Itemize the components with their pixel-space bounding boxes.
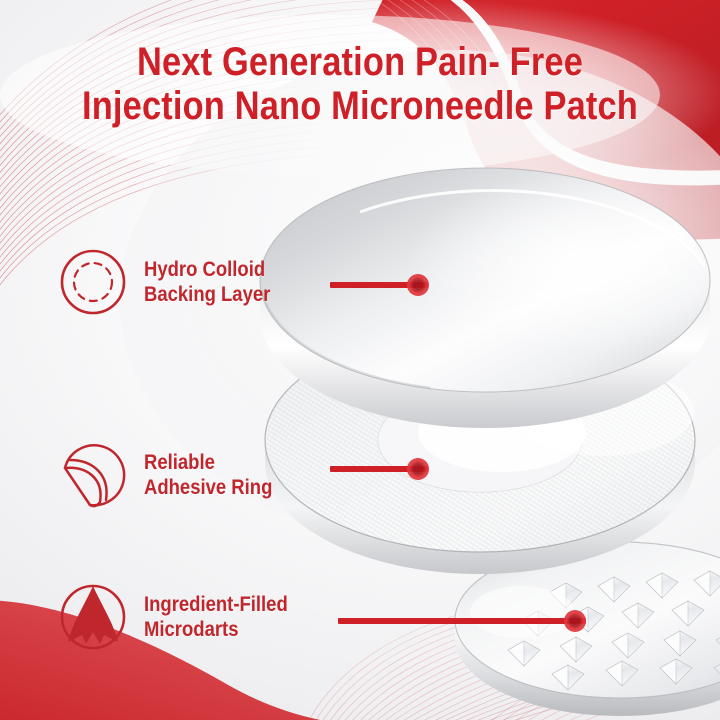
bottom-fan-line-swirls xyxy=(300,592,720,720)
feature-ingredient-filled-microdarts[interactable]: Ingredient-Filled Microdarts xyxy=(56,580,307,654)
feature-2-line-1: Reliable xyxy=(144,450,272,475)
exploded-microneedle-patch-illustration xyxy=(250,140,720,720)
feature-3-line-2: Microdarts xyxy=(144,617,288,642)
dart-in-circle-icon xyxy=(56,580,130,654)
callout-dot-microdarts[interactable] xyxy=(564,610,586,632)
feature-label-backing-layer: Hydro Colloid Backing Layer xyxy=(144,257,270,307)
title-line-2: Injection Nano Microneedle Patch xyxy=(50,84,669,128)
peeling-patch-icon xyxy=(56,438,130,512)
microdart-array xyxy=(508,571,720,690)
hydro-colloid-backing-disc xyxy=(260,168,710,428)
poster-canvas: Next Generation Pain- Free Injection Nan… xyxy=(0,0,720,720)
feature-1-line-2: Backing Layer xyxy=(144,282,270,307)
feature-reliable-adhesive-ring[interactable]: Reliable Adhesive Ring xyxy=(56,438,290,512)
feature-3-line-1: Ingredient-Filled xyxy=(144,592,288,617)
woven-adhesive-ring xyxy=(265,328,695,574)
microdart-base-disc xyxy=(455,542,720,716)
dashed-circle-icon xyxy=(56,245,130,319)
leader-line-microdarts xyxy=(338,618,586,624)
feature-label-microdarts: Ingredient-Filled Microdarts xyxy=(144,592,288,642)
callout-dot-adhesive-ring[interactable] xyxy=(407,458,429,480)
poster-title: Next Generation Pain- Free Injection Nan… xyxy=(0,40,720,128)
feature-1-line-1: Hydro Colloid xyxy=(144,257,270,282)
callout-dot-backing-layer[interactable] xyxy=(407,274,429,296)
feature-label-adhesive-ring: Reliable Adhesive Ring xyxy=(144,450,272,500)
title-line-1: Next Generation Pain- Free xyxy=(50,40,669,84)
feature-2-line-2: Adhesive Ring xyxy=(144,475,272,500)
bottom-right-line-swirls xyxy=(470,648,720,720)
feature-hydro-colloid-backing-layer[interactable]: Hydro Colloid Backing Layer xyxy=(56,245,288,319)
